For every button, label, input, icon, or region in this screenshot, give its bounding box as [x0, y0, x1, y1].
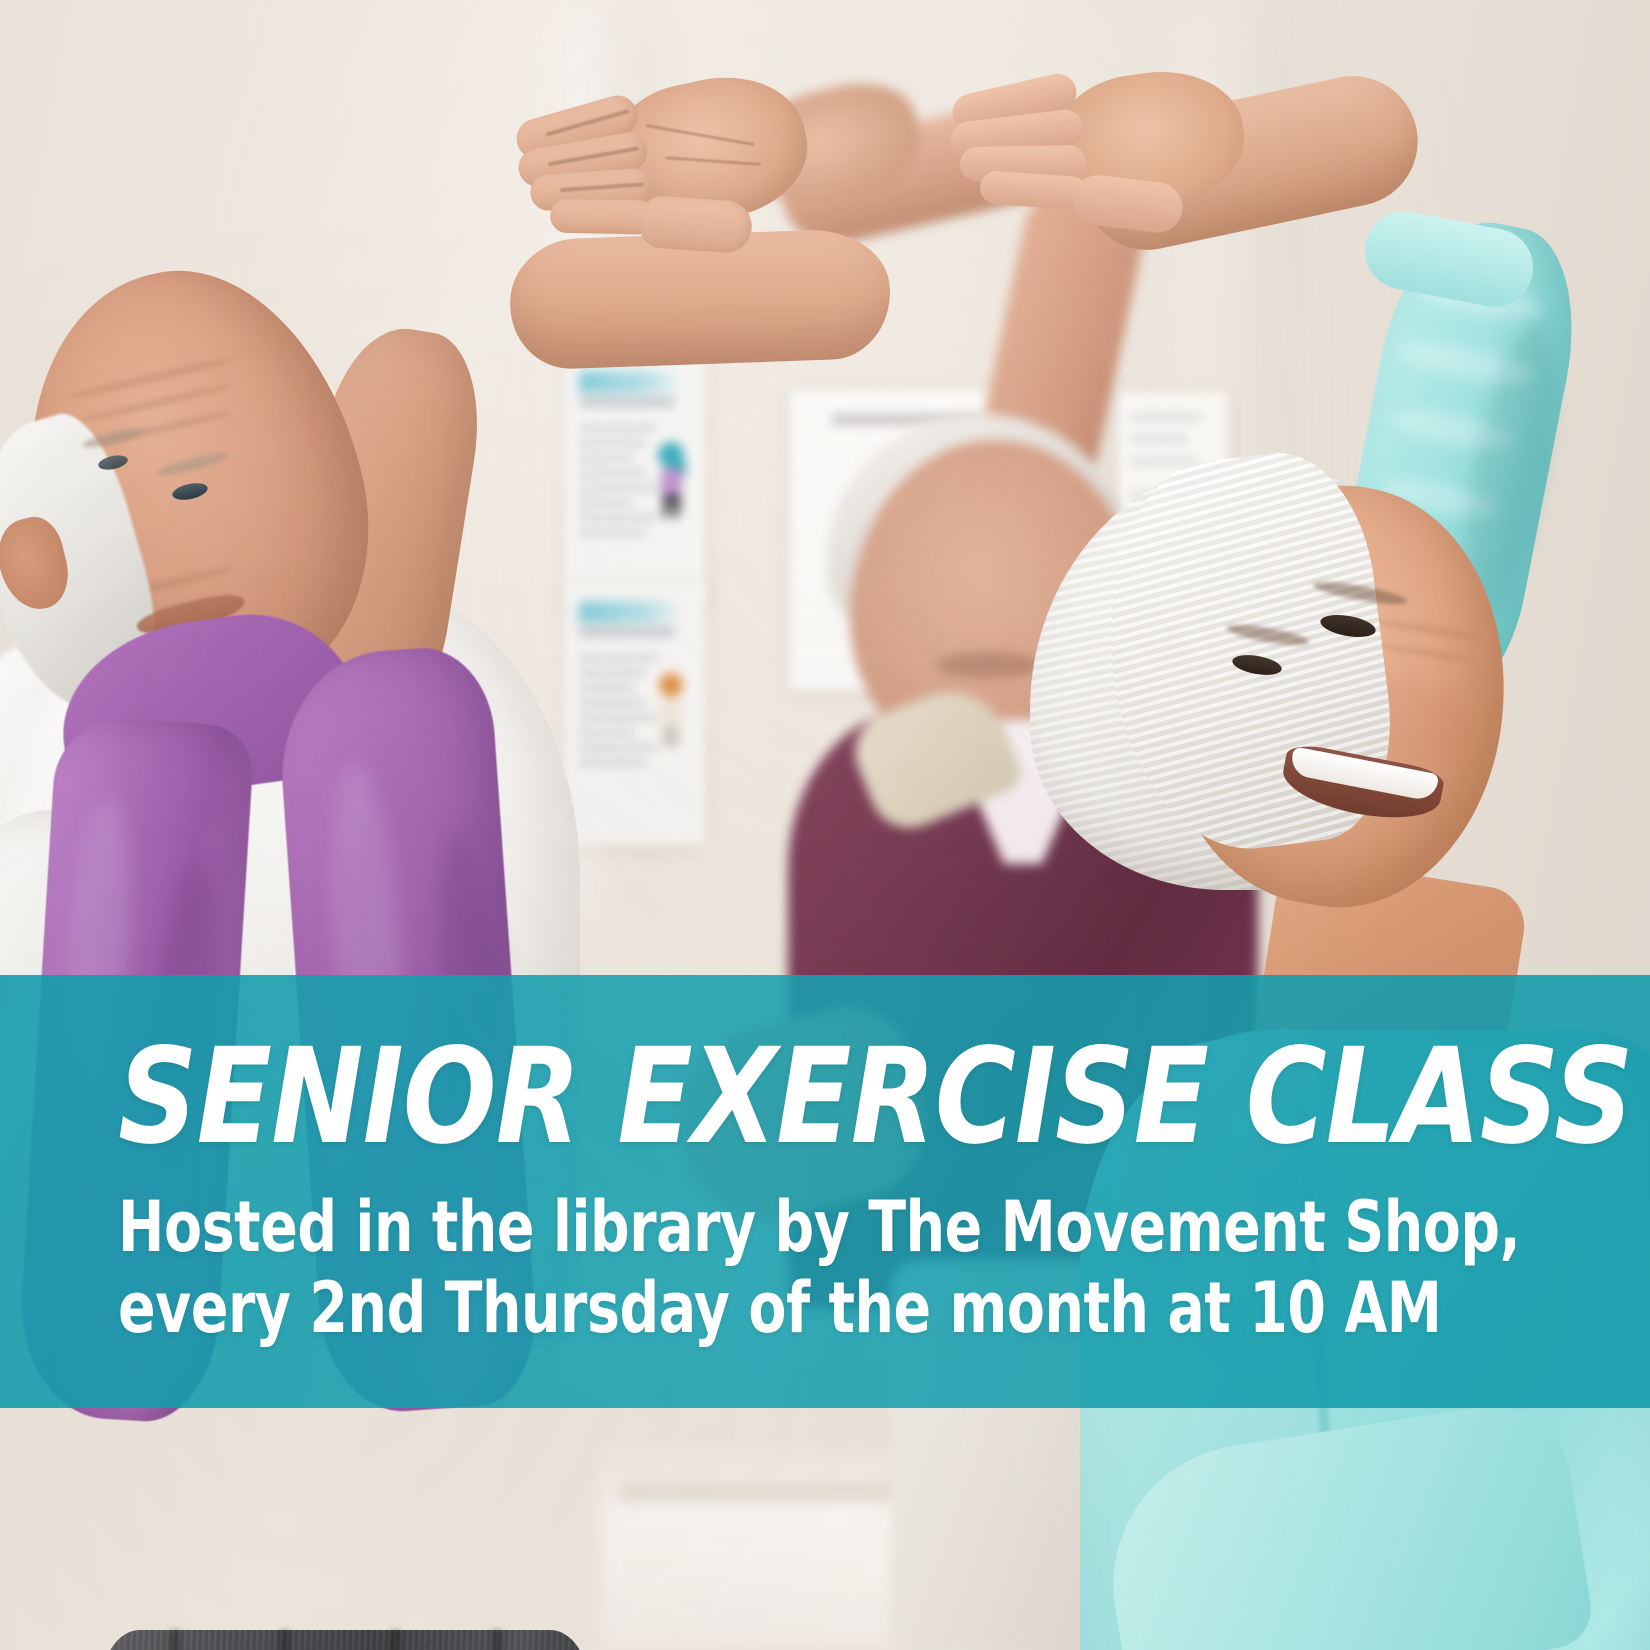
flyer-headline: SENIOR EXERCISE CLASS	[118, 1034, 1543, 1161]
flyer-subtitle-line-1: Hosted in the library by The Movement Sh…	[118, 1187, 1466, 1268]
shorts	[100, 1630, 590, 1650]
subject-man-left	[0, 250, 700, 1650]
flyer-subtitle-line-2: every 2nd Thursday of the month at 10 AM	[118, 1268, 1466, 1349]
forearm	[508, 228, 892, 371]
flyer-poster: SENIOR EXERCISE CLASS Hosted in the libr…	[0, 0, 1650, 1650]
flyer-text-block: SENIOR EXERCISE CLASS Hosted in the libr…	[0, 975, 1650, 1408]
subject-woman-right	[960, 130, 1650, 1650]
